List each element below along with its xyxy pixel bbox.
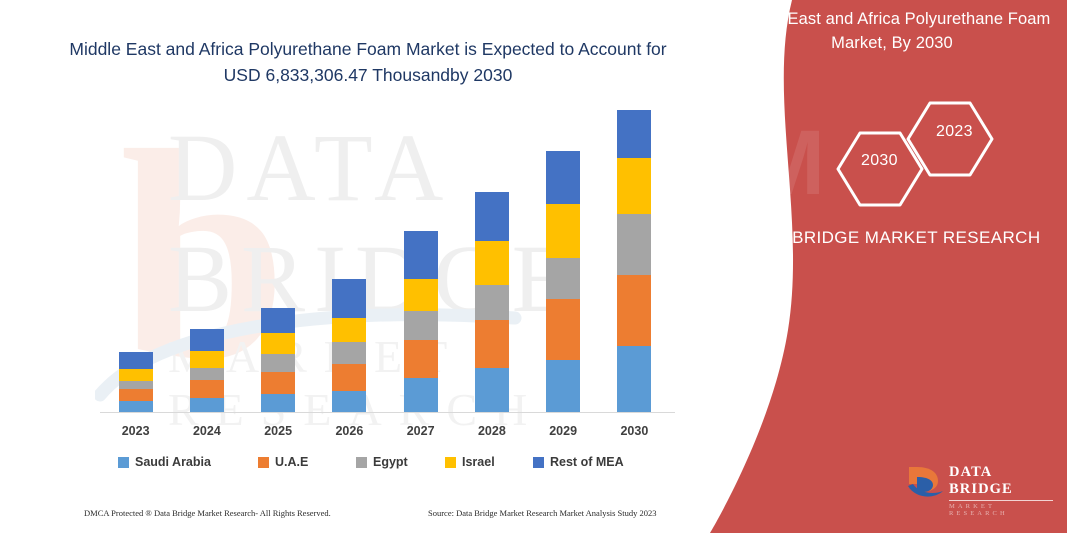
bar-segment-2028-egypt <box>475 285 509 320</box>
bar-segment-2027-uae <box>404 340 438 378</box>
logo-tagline: MARKET RESEARCH <box>949 503 1055 517</box>
legend-swatch-icon <box>356 457 367 468</box>
logo-text-block: DATA BRIDGE MARKET RESEARCH <box>949 464 1055 517</box>
bar-2030 <box>617 110 651 412</box>
data-bridge-logo <box>710 0 860 44</box>
x-axis-label-2029: 2029 <box>533 424 593 438</box>
bar-segment-2024-egypt <box>190 368 224 380</box>
bar-segment-2025-restofmea <box>261 308 295 333</box>
bar-segment-2026-uae <box>332 364 366 391</box>
bar-2026 <box>332 279 366 412</box>
bar-segment-2026-israel <box>332 318 366 342</box>
hexagon-group: 2023 2030 <box>748 95 1048 205</box>
legend-label: Rest of MEA <box>550 455 624 469</box>
bar-segment-2023-saudiarabia <box>119 401 153 412</box>
bar-2029 <box>546 151 580 412</box>
bar-segment-2029-restofmea <box>546 151 580 205</box>
bar-segment-2028-saudiarabia <box>475 368 509 412</box>
hexagon-2023-label: 2023 <box>936 123 973 141</box>
bar-segment-2027-israel <box>404 279 438 311</box>
bar-segment-2024-uae <box>190 380 224 398</box>
footer-source: Source: Data Bridge Market Research Mark… <box>428 508 657 518</box>
bar-2023 <box>119 352 153 412</box>
legend-item-saudiarabia[interactable]: Saudi Arabia <box>118 455 211 469</box>
bar-segment-2030-egypt <box>617 214 651 274</box>
legend-swatch-icon <box>258 457 269 468</box>
bar-segment-2024-israel <box>190 351 224 369</box>
bar-segment-2028-uae <box>475 320 509 368</box>
bar-segment-2025-israel <box>261 333 295 354</box>
bar-segment-2030-israel <box>617 158 651 214</box>
bar-2024 <box>190 329 224 412</box>
x-axis-label-2030: 2030 <box>604 424 664 438</box>
bar-segment-2023-restofmea <box>119 352 153 370</box>
logo-divider <box>949 500 1053 501</box>
hexagon-shapes-icon <box>748 95 1048 210</box>
bar-segment-2023-egypt <box>119 381 153 389</box>
plot-area <box>100 110 670 412</box>
logo-group: DATA BRIDGE MARKET RESEARCH <box>905 462 1055 506</box>
bar-segment-2023-uae <box>119 389 153 401</box>
bar-segment-2026-restofmea <box>332 279 366 317</box>
x-axis-label-2023: 2023 <box>106 424 166 438</box>
logo-name: DATA BRIDGE <box>949 464 1055 498</box>
bar-segment-2029-saudiarabia <box>546 360 580 412</box>
bar-2027 <box>404 231 438 412</box>
x-axis-label-2024: 2024 <box>177 424 237 438</box>
legend-item-restofmea[interactable]: Rest of MEA <box>533 455 624 469</box>
bar-segment-2025-uae <box>261 372 295 394</box>
bar-segment-2026-egypt <box>332 342 366 364</box>
bar-2025 <box>261 308 295 412</box>
footer-copyright: DMCA Protected ® Data Bridge Market Rese… <box>84 508 331 518</box>
chart-legend: Saudi ArabiaU.A.EEgyptIsraelRest of MEA <box>118 455 678 475</box>
bar-segment-2027-restofmea <box>404 231 438 279</box>
legend-item-egypt[interactable]: Egypt <box>356 455 408 469</box>
bar-segment-2030-saudiarabia <box>617 346 651 412</box>
brand-panel: RM Middle East and Africa Polyurethane F… <box>710 0 1067 533</box>
bar-segment-2024-restofmea <box>190 329 224 351</box>
legend-label: Saudi Arabia <box>135 455 211 469</box>
brand-panel-company: DATA BRIDGE MARKET RESEARCH <box>732 225 1052 251</box>
footer: DMCA Protected ® Data Bridge Market Rese… <box>0 508 720 524</box>
bar-segment-2025-saudiarabia <box>261 394 295 412</box>
bar-segment-2028-israel <box>475 241 509 285</box>
legend-swatch-icon <box>118 457 129 468</box>
bar-segment-2029-egypt <box>546 258 580 299</box>
bar-segment-2027-saudiarabia <box>404 378 438 412</box>
bar-segment-2025-egypt <box>261 354 295 373</box>
data-bridge-mark-icon <box>905 464 945 502</box>
bar-segment-2027-egypt <box>404 311 438 340</box>
bar-segment-2029-uae <box>546 299 580 361</box>
x-axis-label-2027: 2027 <box>391 424 451 438</box>
legend-item-uae[interactable]: U.A.E <box>258 455 308 469</box>
x-axis-label-2028: 2028 <box>462 424 522 438</box>
legend-item-israel[interactable]: Israel <box>445 455 495 469</box>
x-axis-labels: 20232024202520262027202820292030 <box>100 424 670 444</box>
bar-segment-2028-restofmea <box>475 192 509 240</box>
bar-segment-2030-uae <box>617 275 651 346</box>
legend-label: Egypt <box>373 455 408 469</box>
infographic-root: b DATA BRIDGE MARKET RESEARCH Middle Eas… <box>0 0 1067 533</box>
x-axis-line <box>100 412 675 413</box>
bar-segment-2026-saudiarabia <box>332 391 366 412</box>
legend-swatch-icon <box>533 457 544 468</box>
x-axis-label-2025: 2025 <box>248 424 308 438</box>
legend-label: Israel <box>462 455 495 469</box>
legend-swatch-icon <box>445 457 456 468</box>
x-axis-label-2026: 2026 <box>319 424 379 438</box>
chart-panel: b DATA BRIDGE MARKET RESEARCH Middle Eas… <box>0 0 730 533</box>
chart-title: Middle East and Africa Polyurethane Foam… <box>58 36 678 89</box>
bar-segment-2029-israel <box>546 204 580 258</box>
bar-segment-2023-israel <box>119 369 153 381</box>
legend-label: U.A.E <box>275 455 308 469</box>
hexagon-2030-label: 2030 <box>861 152 898 170</box>
bar-segment-2024-saudiarabia <box>190 398 224 412</box>
bar-2028 <box>475 192 509 412</box>
bar-segment-2030-restofmea <box>617 110 651 158</box>
